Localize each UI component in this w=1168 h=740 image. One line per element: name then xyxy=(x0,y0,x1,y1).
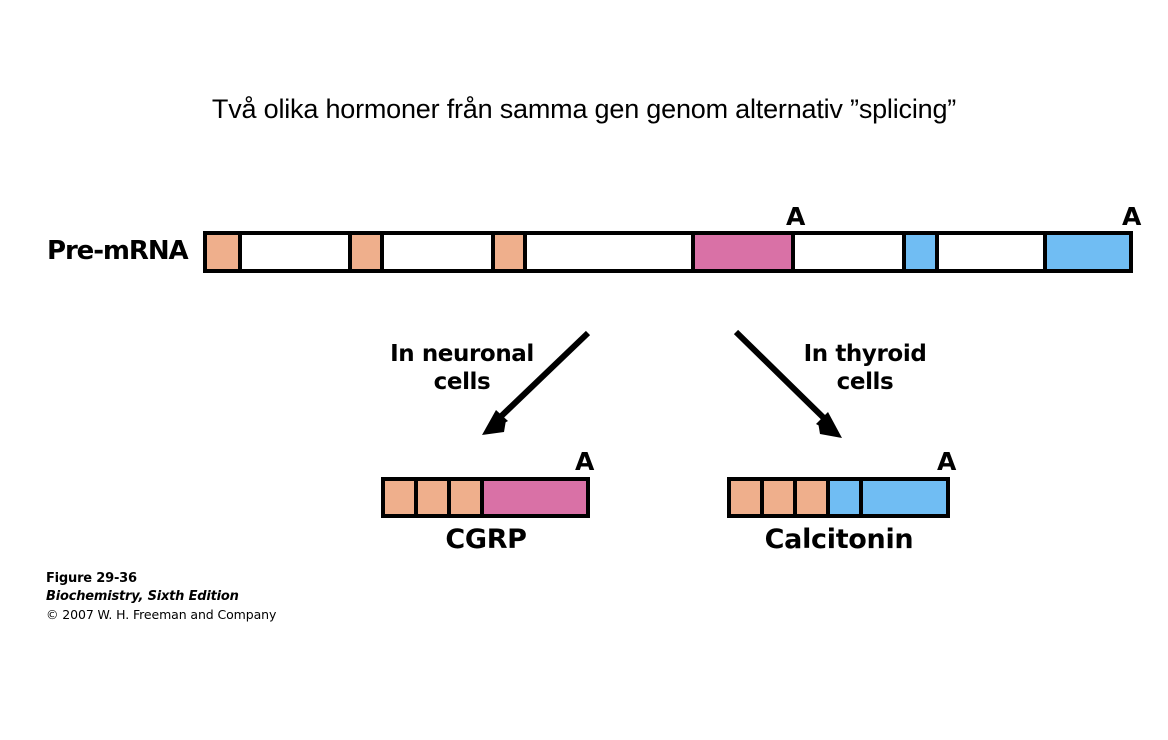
polya-marker-calcitonin: A xyxy=(937,449,956,474)
segment-intron-2 xyxy=(384,235,494,269)
premrna-transcript-bar xyxy=(203,231,1133,273)
product-name-cgrp: CGRP xyxy=(376,524,596,555)
segment-exon-5-blue-small xyxy=(830,481,863,514)
segment-exon-1 xyxy=(385,481,418,514)
segment-exon-1 xyxy=(731,481,764,514)
polya-marker-cgrp: A xyxy=(575,449,594,474)
segment-exon-6-blue-large xyxy=(863,481,946,514)
segment-exon-2 xyxy=(764,481,797,514)
pathway-label-thyroid-line1: In thyroid xyxy=(780,340,950,368)
polya-marker-calcitonin-site: A xyxy=(786,204,805,229)
segment-intron-1 xyxy=(242,235,352,269)
segment-intron-5 xyxy=(939,235,1047,269)
segment-intron-4 xyxy=(795,235,906,269)
cgrp-transcript-bar xyxy=(381,477,590,518)
pathway-label-thyroid-line2: cells xyxy=(780,368,950,396)
segment-exon-1 xyxy=(207,235,242,269)
pathway-label-neuronal-line2: cells xyxy=(372,368,552,396)
premrna-label: Pre-mRNA xyxy=(47,236,188,266)
figure-copyright: © 2007 W. H. Freeman and Company xyxy=(46,606,276,625)
segment-exon-3 xyxy=(495,235,528,269)
figure-canvas: Två olika hormoner från samma gen genom … xyxy=(0,0,1168,740)
segment-exon-3 xyxy=(797,481,830,514)
figure-book-title: Biochemistry, Sixth Edition xyxy=(46,588,276,606)
segment-exon-3 xyxy=(451,481,484,514)
calcitonin-transcript-bar xyxy=(727,477,950,518)
pathway-label-thyroid: In thyroid cells xyxy=(780,340,950,396)
pathway-label-neuronal: In neuronal cells xyxy=(372,340,552,396)
segment-exon-2 xyxy=(418,481,451,514)
segment-exon-5 xyxy=(906,235,939,269)
figure-title: Två olika hormoner från samma gen genom … xyxy=(0,94,1168,125)
segment-exon-4-pink xyxy=(484,481,586,514)
pathway-label-neuronal-line1: In neuronal xyxy=(372,340,552,368)
figure-number: Figure 29-36 xyxy=(46,570,276,588)
segment-intron-3 xyxy=(527,235,695,269)
segment-exon-6-cgrp xyxy=(1047,235,1129,269)
figure-credit: Figure 29-36 Biochemistry, Sixth Edition… xyxy=(46,570,276,625)
segment-exon-4-calcitonin xyxy=(695,235,795,269)
polya-marker-cgrp-site: A xyxy=(1122,204,1141,229)
segment-exon-2 xyxy=(352,235,385,269)
product-name-calcitonin: Calcitonin xyxy=(722,524,956,555)
